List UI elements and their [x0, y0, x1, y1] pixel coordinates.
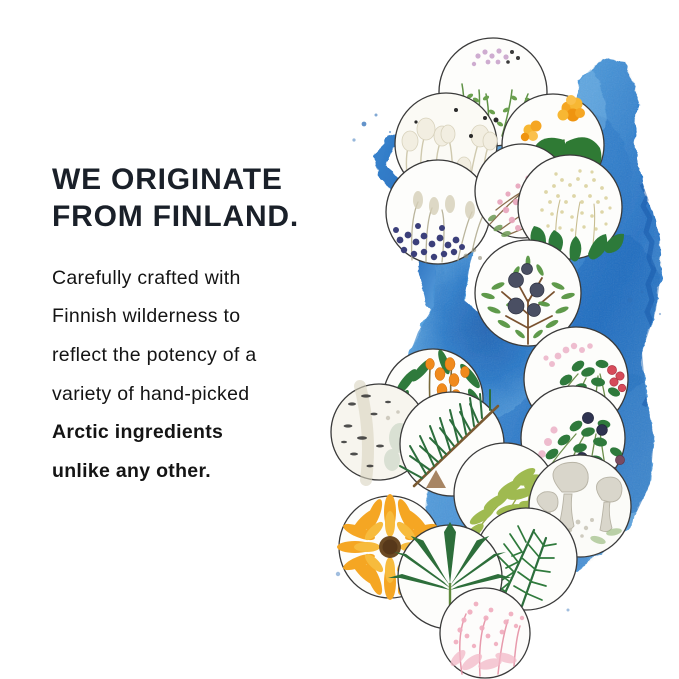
circle-bilberry-sprigs [386, 160, 490, 264]
poster-canvas: WE ORIGINATE FROM FINLAND. Carefully cra… [0, 0, 679, 679]
finland-map-illustration [330, 14, 679, 679]
page-title: WE ORIGINATE FROM FINLAND. [52, 162, 362, 236]
body-line-2: Finnish wilderness to [52, 297, 362, 336]
body-line-5: Arctic ingredients [52, 413, 362, 452]
body-line-4: variety of hand-picked [52, 375, 362, 414]
body-copy: Carefully crafted with Finnish wildernes… [52, 236, 362, 491]
body-line-3: reflect the potency of a [52, 336, 362, 375]
body-line-1: Carefully crafted with [52, 259, 362, 298]
body-line-6: unlike any other. [52, 452, 362, 491]
copy-block: WE ORIGINATE FROM FINLAND. Carefully cra… [52, 162, 362, 490]
headline-line-1: WE ORIGINATE [52, 162, 362, 199]
circle-fireweed [440, 588, 530, 678]
headline-line-2: FROM FINLAND. [52, 199, 362, 236]
